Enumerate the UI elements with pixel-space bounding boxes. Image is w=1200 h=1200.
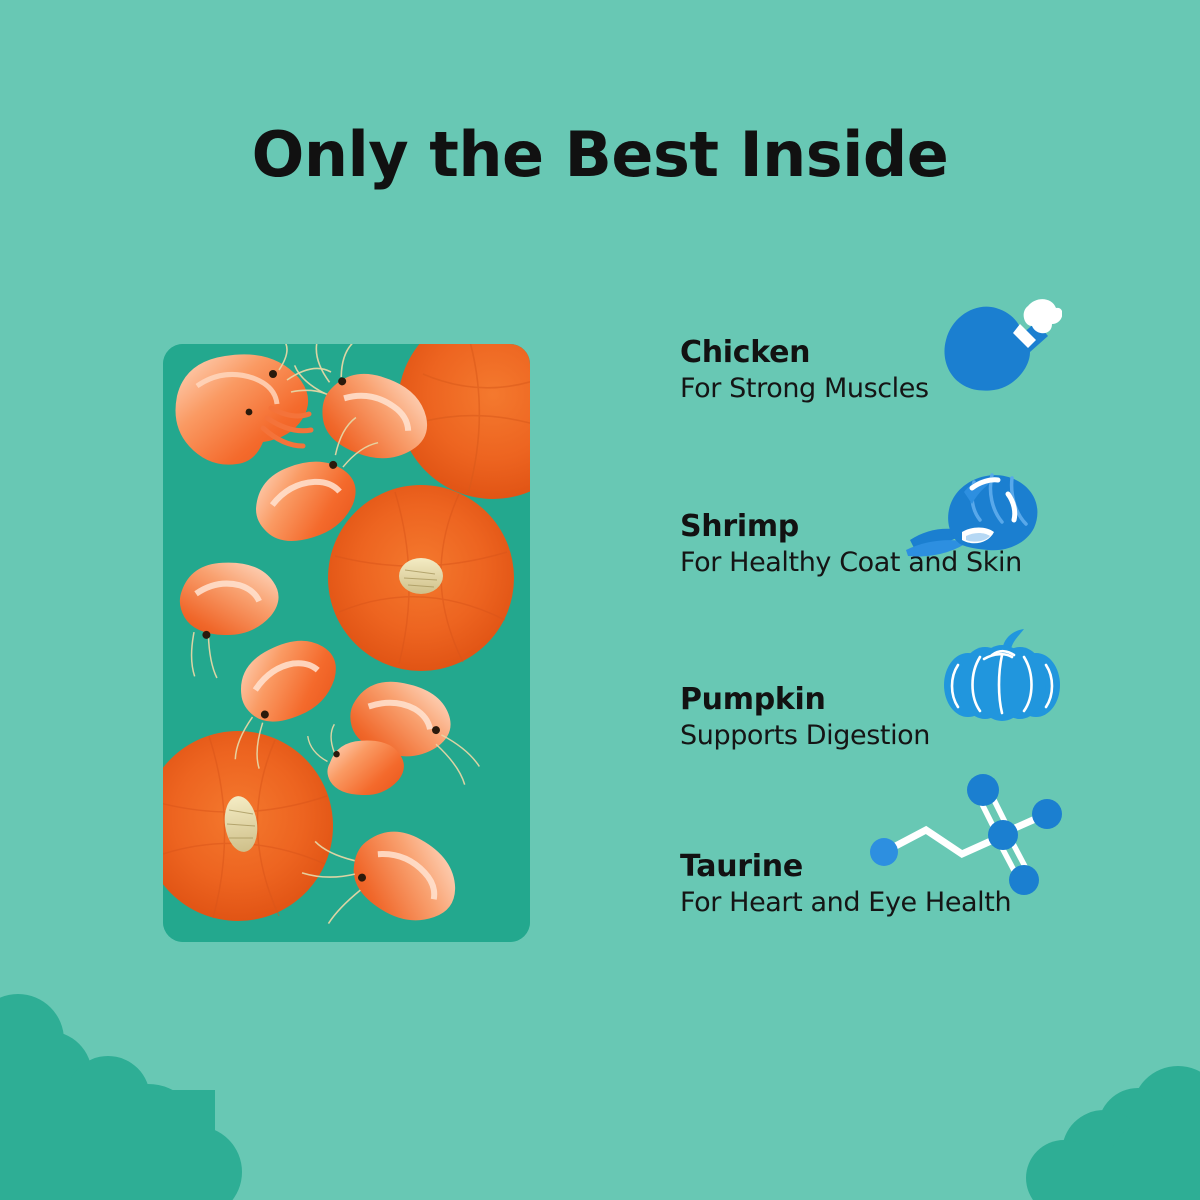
ingredient-photo [163, 344, 530, 942]
infographic-canvas: Only the Best Inside [0, 0, 1200, 1200]
blob-bottom-left [0, 994, 242, 1200]
pumpkin-photo-center [328, 485, 514, 671]
ingredient-name: Chicken [680, 336, 929, 369]
shrimp-icon [900, 448, 1060, 578]
photo-artwork [163, 344, 530, 942]
molecule-node [1009, 865, 1039, 895]
ingredient-photo-panel [163, 344, 530, 942]
page-title: Only the Best Inside [0, 122, 1200, 187]
molecule-node [988, 820, 1018, 850]
molecule-node [1032, 799, 1062, 829]
ingredient-name: Pumpkin [680, 683, 930, 716]
pumpkin-icon [940, 623, 1065, 738]
molecule-node [870, 838, 898, 866]
ingredient-description: Supports Digestion [680, 720, 930, 751]
ingredient-list: Chicken For Strong Muscles Shrimp For He… [600, 258, 1120, 958]
taurine-molecule-icon [862, 772, 1072, 902]
blob-bottom-right [1026, 1066, 1200, 1200]
chicken-drumstick-icon [932, 270, 1062, 400]
ingredient-description: For Strong Muscles [680, 373, 929, 404]
molecule-node [967, 774, 999, 806]
